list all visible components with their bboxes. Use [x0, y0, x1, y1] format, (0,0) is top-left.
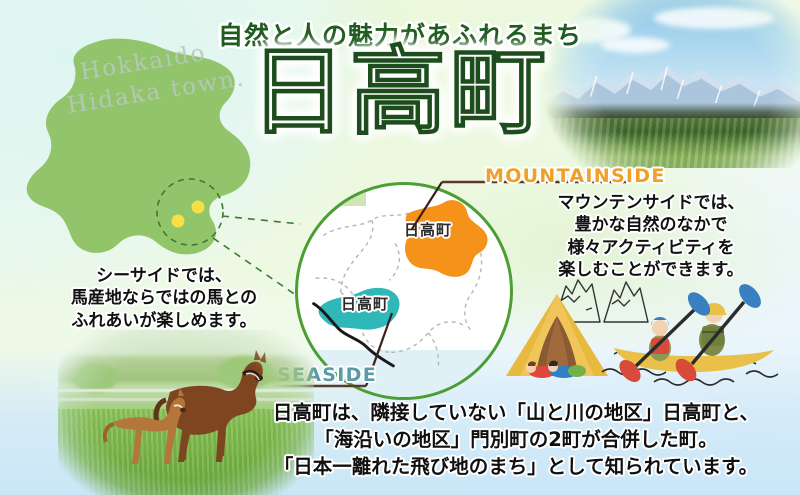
- region-label-mountainside: 日高町: [404, 219, 452, 240]
- description-seaside: シーサイドでは、 馬産地ならではの馬との ふれあいが楽しめます。: [28, 265, 300, 332]
- paddler-rear: [649, 317, 671, 361]
- paddles: [615, 280, 765, 386]
- footer-line: 「日本一離れた飛び地のまち」として知られています。: [236, 454, 796, 481]
- footer-text: 日高町は、隣接していない「山と川の地区」日高町と、 「海沿いの地区」門別町の2町…: [236, 400, 796, 481]
- region-label-seaside: 日高町: [341, 293, 389, 314]
- desc-line: ふれあいが楽しめます。: [28, 310, 300, 332]
- footer-line: 「海沿いの地区」門別町の2町が合併した町。: [236, 427, 796, 454]
- desc-line: 豊かな自然のなかで: [505, 214, 797, 236]
- poster-root: Hokkaido Hidaka town. 自然と人の魅力があふれるまち 日高町: [0, 0, 800, 495]
- desc-line: シーサイドでは、: [28, 265, 300, 287]
- desc-line: 様々アクティビティを: [505, 237, 797, 259]
- label-mountainside: MOUNTAINSIDE: [485, 165, 666, 187]
- desc-line: マウンテンサイドでは、: [505, 192, 797, 214]
- tail: [105, 424, 114, 442]
- kayak-icon: [596, 280, 794, 390]
- page-title: 日高町: [0, 44, 800, 140]
- footer-line: 日高町は、隣接していない「山と川の地区」日高町と、: [236, 400, 796, 427]
- description-mountainside: マウンテンサイドでは、 豊かな自然のなかで 様々アクティビティを 楽しむことがで…: [505, 192, 797, 282]
- desc-line: 馬産地ならではの馬との: [28, 287, 300, 309]
